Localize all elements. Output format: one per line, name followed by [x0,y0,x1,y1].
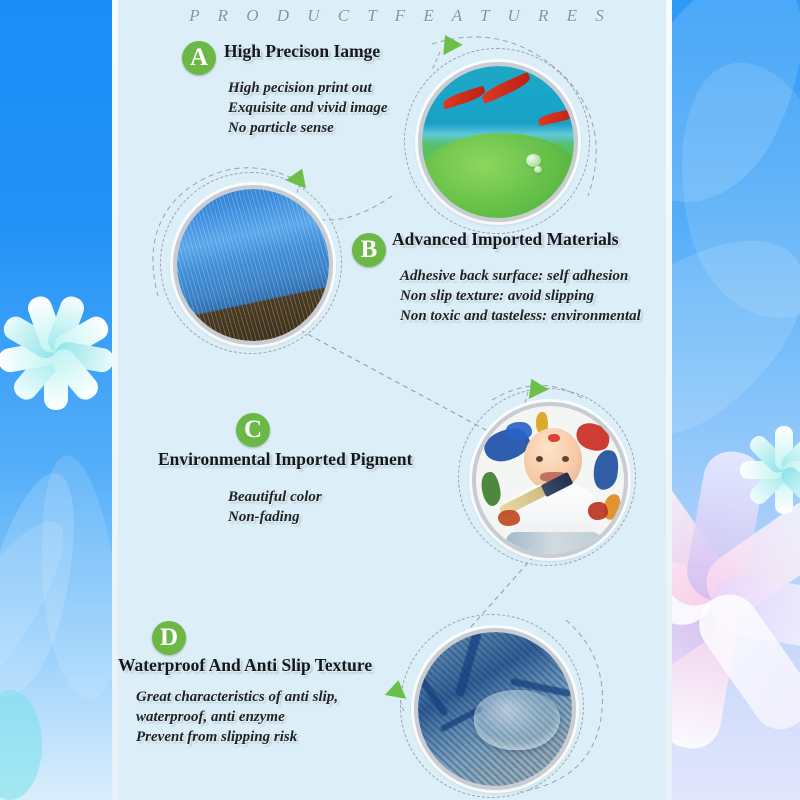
feature-bullets-a: High pecision print out Exquisite and vi… [228,78,388,138]
paint-dot-forehead [548,434,560,442]
bullet-line: Adhesive back surface: self adhesion [400,266,641,286]
feature-badge-b: B [352,233,386,267]
arrow-to-photo-d [385,678,410,699]
blue-fabric-image [177,189,329,341]
left-decorative-band [0,0,112,800]
lotus-leaf [422,133,574,218]
bullet-line: Beautiful color [228,487,322,507]
bullet-line: Prevent from slipping risk [136,727,338,747]
feature-heading-c: Environmental Imported Pigment [158,449,412,470]
water-droplet [526,154,541,167]
photo-circle-c [472,402,628,558]
bullet-line: Non slip texture: avoid slipping [400,286,641,306]
feature-badge-d: D [152,621,186,655]
feature-heading-a: High Precison Iamge [224,41,380,62]
decor-petal [0,690,42,800]
surface-vein [455,632,483,698]
baby-eye [536,456,543,462]
photo-circle-b [173,185,333,345]
feature-heading-b: Advanced Imported Materials [392,229,619,250]
bullet-line: Great characteristics of anti slip, [136,687,338,707]
paint-splatter [591,448,621,491]
paint-splatter [479,471,502,507]
right-decorative-band [672,0,800,800]
bullet-line: No particle sense [228,118,388,138]
bullet-line: Non-fading [228,507,322,527]
surface-vein [418,665,449,717]
painted-baby-image [476,406,624,554]
bullet-line: waterproof, anti enzyme [136,707,338,727]
bullet-line: Exquisite and vivid image [228,98,388,118]
baby-eye [562,456,569,462]
water-droplet [534,166,542,173]
feature-bullets-b: Adhesive back surface: self adhesion Non… [400,266,641,326]
page-title: P R O D U C T F E A T U R E S [0,6,800,26]
photo-circle-a [418,62,578,222]
paint-splatter [506,422,532,440]
bullet-line: High pecision print out [228,78,388,98]
left-band-edge [112,0,118,800]
photo-circle-d [414,628,576,790]
feature-badge-c: C [236,413,270,447]
paint-on-arm [588,502,608,520]
feature-badge-a: A [182,41,216,75]
right-band-edge [666,0,672,800]
waterproof-surface-image [418,632,572,786]
paint-on-arm [498,510,520,526]
paint-floor [506,532,602,554]
arrow-to-photo-a [435,30,462,55]
water-droplet-large [474,690,560,750]
feature-heading-d: Waterproof And Anti Slip Texture [118,655,372,676]
feature-bullets-d: Great characteristics of anti slip, wate… [136,687,338,747]
bullet-line: Non toxic and tasteless: environmental [400,306,641,326]
feature-bullets-c: Beautiful color Non-fading [228,487,322,527]
product-features-poster: P R O D U C T F E A T U R E S A High Pre… [0,0,800,800]
